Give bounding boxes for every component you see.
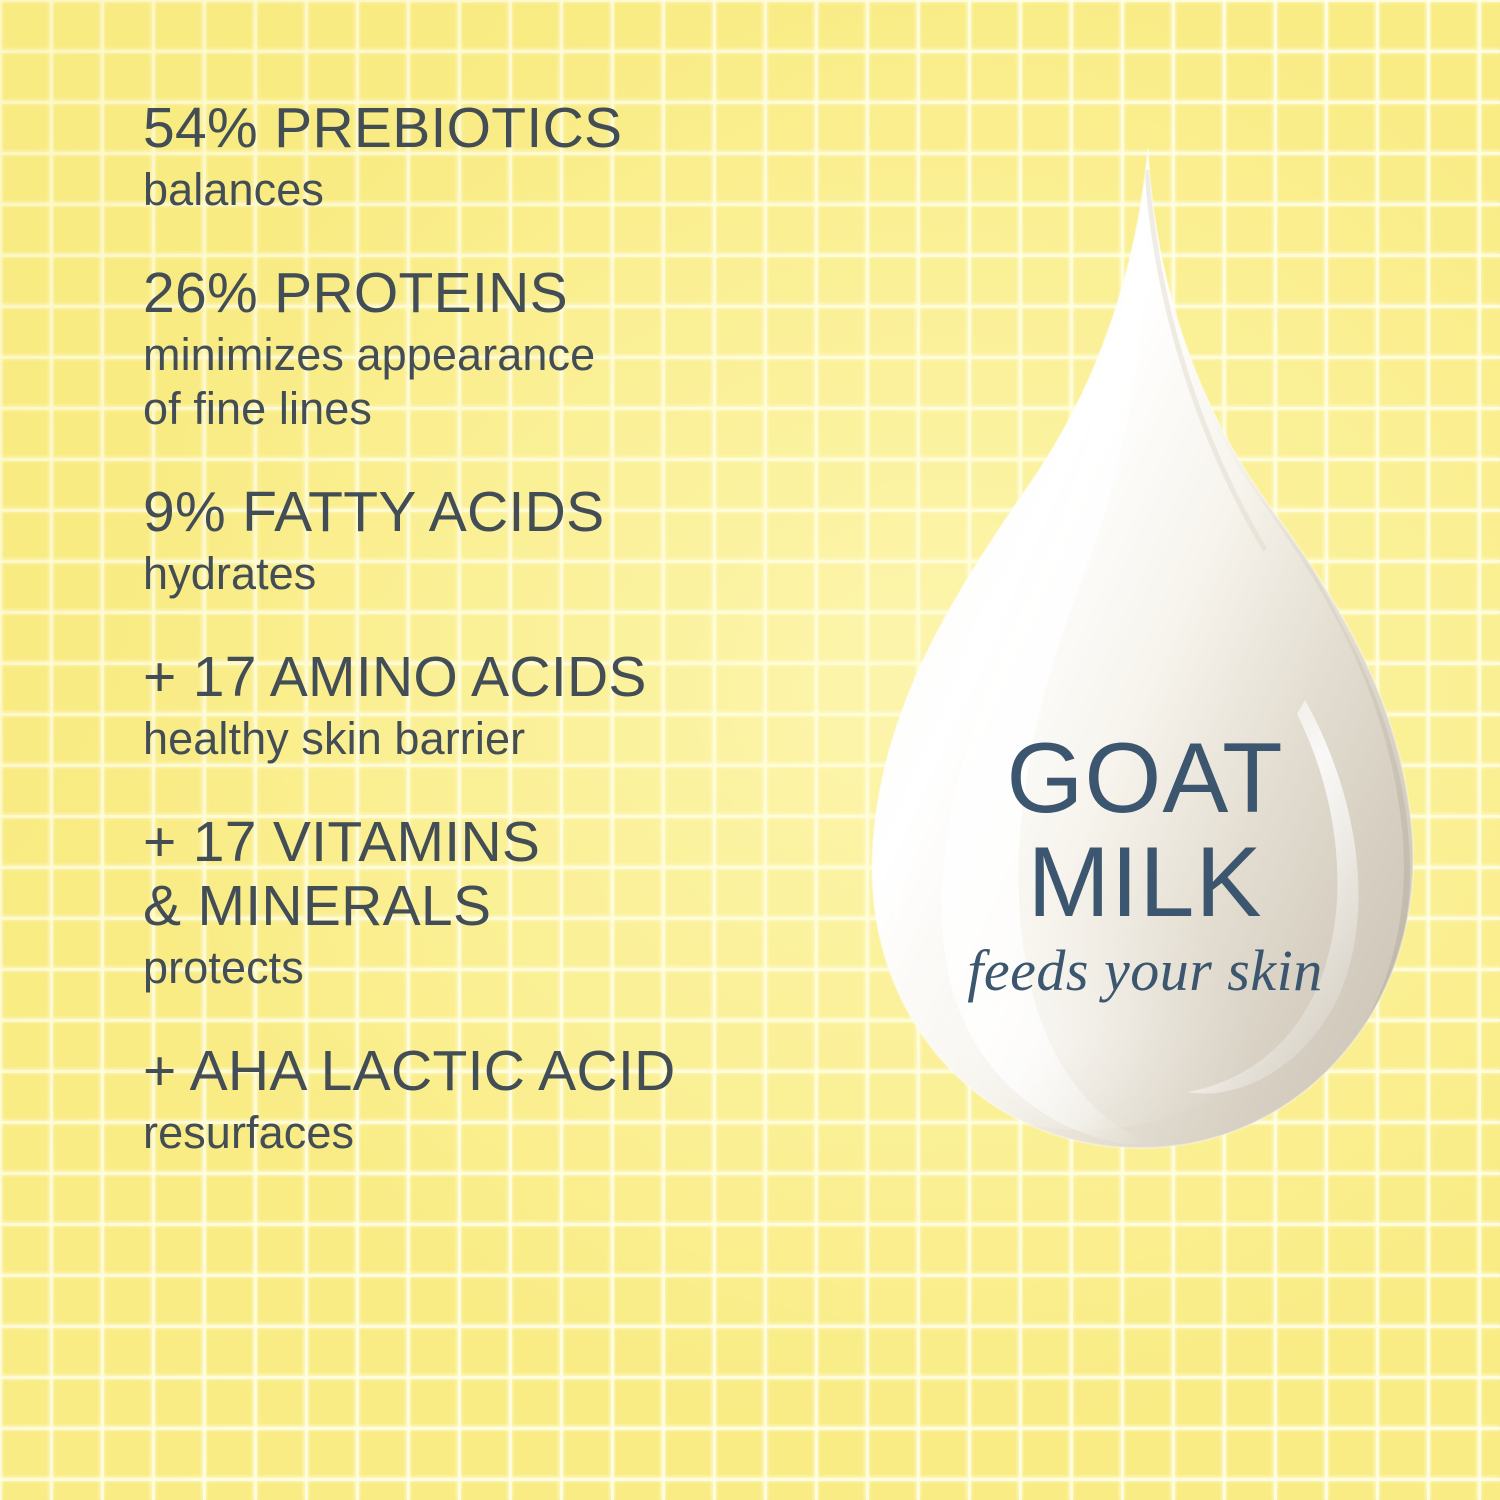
ingredient-benefit: protects [143, 941, 863, 995]
ingredient-benefit: hydrates [143, 547, 863, 601]
droplet-bottom-glow [875, 810, 1295, 1130]
ingredient-heading: 9% FATTY ACIDS [143, 480, 863, 544]
ingredient-heading: + 17 AMINO ACIDS [143, 645, 863, 709]
ingredient-benefit: healthy skin barrier [143, 712, 863, 766]
ingredient-item-amino-acids: + 17 AMINO ACIDS healthy skin barrier [143, 645, 863, 766]
ingredient-heading: 54% PREBIOTICS [143, 96, 863, 160]
ingredient-list: 54% PREBIOTICS balances 26% PROTEINS min… [143, 96, 863, 1160]
ingredient-benefit: balances [143, 163, 863, 217]
ingredient-heading: + AHA LACTIC ACID [143, 1039, 863, 1103]
ingredient-item-vitamins-minerals: + 17 VITAMINS & MINERALS protects [143, 810, 863, 995]
milk-droplet-icon [835, 140, 1455, 1210]
ingredient-item-prebiotics: 54% PREBIOTICS balances [143, 96, 863, 217]
ingredient-item-aha-lactic-acid: + AHA LACTIC ACID resurfaces [143, 1039, 863, 1160]
ingredient-item-fatty-acids: 9% FATTY ACIDS hydrates [143, 480, 863, 601]
ingredient-benefit: minimizes appearance of fine lines [143, 328, 863, 436]
infographic-canvas: 54% PREBIOTICS balances 26% PROTEINS min… [0, 0, 1500, 1500]
ingredient-item-proteins: 26% PROTEINS minimizes appearance of fin… [143, 261, 863, 436]
ingredient-heading: + 17 VITAMINS & MINERALS [143, 810, 863, 938]
ingredient-heading: 26% PROTEINS [143, 261, 863, 325]
ingredient-benefit: resurfaces [143, 1106, 863, 1160]
